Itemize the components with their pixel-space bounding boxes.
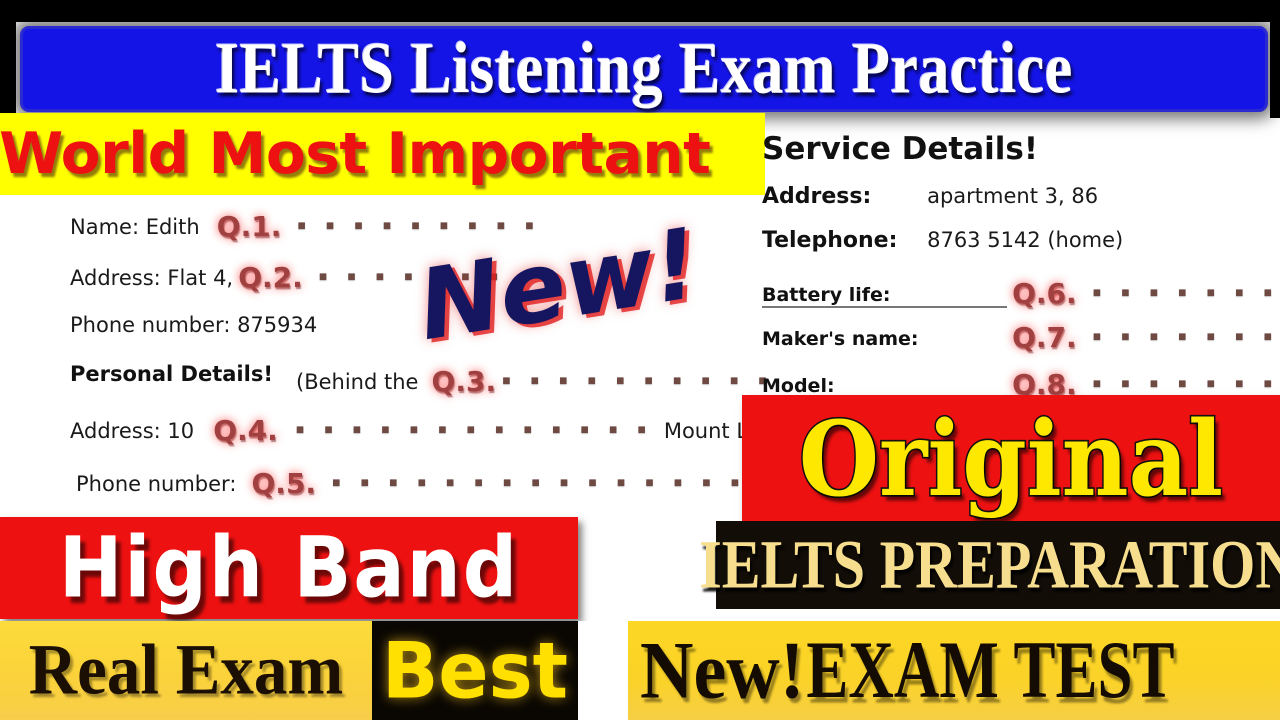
right-row-maker-label: Maker's name: (762, 328, 1007, 350)
answer-blank-q3: ▪ ▪ ▪ ▪ ▪ ▪ ▪ ▪ ▪ ▪ (501, 370, 771, 390)
personal-details-heading: Personal Details! (70, 362, 273, 386)
answer-blank-q8: ▪ ▪ ▪ ▪ ▪ ▪ ▪ ▪ ▪ ▪ ▪ (1092, 373, 1280, 393)
right-row-model-label: Model: (762, 375, 1007, 397)
answer-blank-q4: ▪ ▪ ▪ ▪ ▪ ▪ ▪ ▪ ▪ ▪ ▪ ▪ ▪ (295, 419, 651, 439)
question-marker-q1: Q.1. (217, 210, 282, 243)
right-row-address-value: apartment 3, 86 (927, 184, 1098, 208)
real-exam-badge-label: Real Exam (29, 634, 344, 706)
left-row-name-label: Name: Edith (70, 215, 200, 239)
right-row-telephone-value: 8763 5142 (home) (927, 228, 1123, 252)
page-title: IELTS Listening Exam Practice (215, 32, 1073, 105)
promo-banner-label: World Most Important (0, 125, 710, 183)
personal-details-label: Personal Details! (70, 362, 273, 386)
left-row-address-label: Address: Flat 4, (70, 266, 233, 290)
right-row-battery: Battery life: Q.6. ▪ ▪ ▪ ▪ ▪ ▪ ▪ ▪ ▪ ▪ ▪ (762, 277, 1280, 310)
left-row-address2-label: Address: 10 (70, 419, 194, 443)
thumbnail-canvas: IELTS Listening Exam Practice World Most… (0, 0, 1280, 720)
exam-test-badge: New! EXAM TEST (628, 621, 1280, 720)
left-row-phone: Phone number: 875934 (70, 313, 317, 337)
high-band-badge: High Band (0, 517, 578, 619)
right-row-battery-label: Battery life: (762, 284, 1007, 308)
original-badge: Original (742, 395, 1280, 523)
best-badge-label: Best (382, 632, 568, 710)
question-marker-q4: Q.4. (213, 414, 278, 447)
question-marker-q7: Q.7. (1012, 321, 1077, 354)
exam-test-label: EXAM TEST (806, 630, 1174, 712)
question-marker-q3: Q.3. (432, 365, 497, 398)
original-badge-label: Original (799, 407, 1223, 510)
right-row-address-label: Address: (762, 184, 922, 209)
exam-test-new-label: New! (628, 630, 804, 711)
left-row-phone2-label: Phone number: (76, 472, 236, 496)
left-row-phone-label: Phone number: 875934 (70, 313, 317, 337)
preparation-badge-label: IELTS PREPARATION (699, 531, 1280, 599)
left-row-phone2: Phone number: Q.5. ▪ ▪ ▪ ▪ ▪ ▪ ▪ ▪ ▪ ▪ ▪… (76, 467, 744, 500)
right-row-address: Address: apartment 3, 86 (762, 184, 1098, 209)
high-band-badge-label: High Band (59, 526, 519, 610)
left-row-name: Name: Edith Q.1. ▪ ▪ ▪ ▪ ▪ ▪ ▪ ▪ ▪ (70, 210, 538, 243)
question-marker-q5: Q.5. (252, 467, 317, 500)
right-row-telephone-label: Telephone: (762, 228, 922, 253)
right-black-border (1270, 0, 1280, 118)
service-details-heading: Service Details! (762, 131, 1038, 167)
left-black-border (0, 0, 16, 118)
question-marker-q2: Q.2. (238, 261, 303, 294)
behind-the-note: (Behind the Q.3. ▪ ▪ ▪ ▪ ▪ ▪ ▪ ▪ ▪ ▪ (296, 365, 772, 398)
top-black-border (0, 0, 1280, 22)
behind-the-label: (Behind the (296, 370, 418, 394)
question-marker-q6: Q.6. (1012, 277, 1077, 310)
best-badge: Best (372, 621, 578, 720)
right-row-maker: Maker's name: Q.7. ▪ ▪ ▪ ▪ ▪ ▪ ▪ ▪ ▪ ▪ ▪ (762, 321, 1280, 354)
title-banner: IELTS Listening Exam Practice (20, 26, 1268, 112)
right-row-telephone: Telephone: 8763 5142 (home) (762, 228, 1123, 253)
promo-banner: World Most Important (0, 113, 765, 195)
answer-blank-q7: ▪ ▪ ▪ ▪ ▪ ▪ ▪ ▪ ▪ ▪ ▪ (1092, 326, 1280, 346)
answer-blank-q6: ▪ ▪ ▪ ▪ ▪ ▪ ▪ ▪ ▪ ▪ ▪ (1092, 282, 1280, 302)
bottom-gap (578, 621, 628, 720)
answer-blank-q1: ▪ ▪ ▪ ▪ ▪ ▪ ▪ ▪ ▪ (296, 215, 538, 235)
answer-blank-q5: ▪ ▪ ▪ ▪ ▪ ▪ ▪ ▪ ▪ ▪ ▪ ▪ ▪ ▪ ▪ (331, 472, 744, 492)
preparation-badge: IELTS PREPARATION (716, 521, 1280, 609)
left-row-address2: Address: 10 Q.4. ▪ ▪ ▪ ▪ ▪ ▪ ▪ ▪ ▪ ▪ ▪ ▪… (70, 414, 809, 447)
real-exam-badge: Real Exam (0, 621, 372, 720)
